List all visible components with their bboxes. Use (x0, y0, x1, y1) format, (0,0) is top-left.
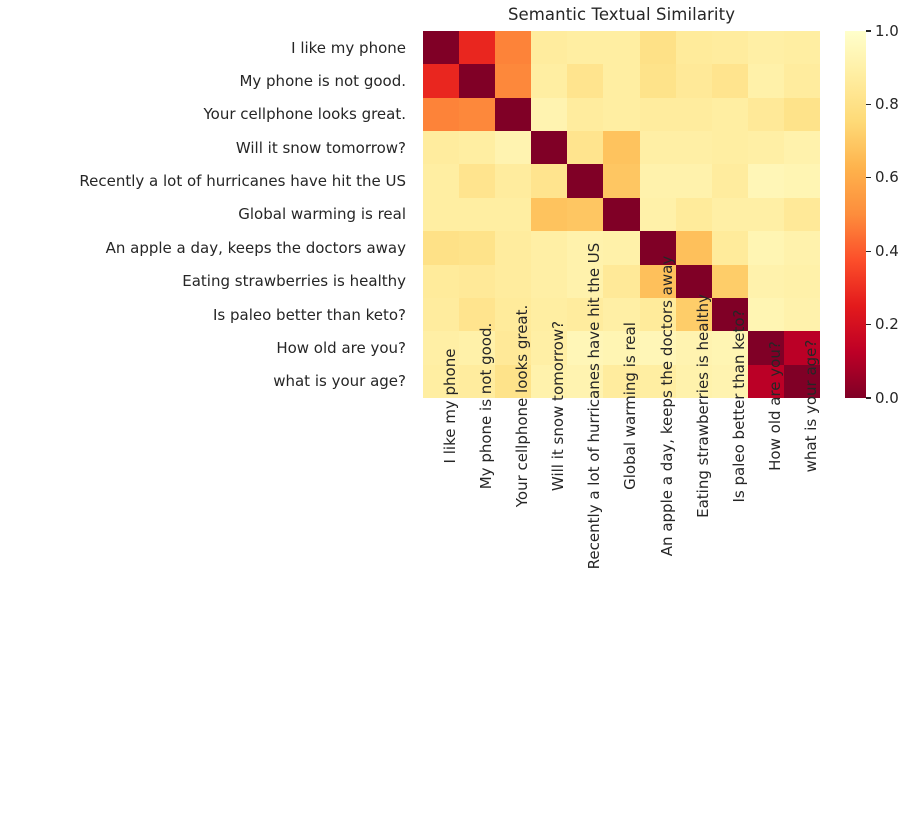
x-tick-label: Global warming is real (603, 398, 639, 818)
y-tick-label: How old are you? (0, 331, 415, 364)
heatmap-cell (784, 231, 820, 264)
heatmap-cell (423, 164, 459, 197)
heatmap-cell (784, 164, 820, 197)
heatmap-cell (676, 98, 712, 131)
heatmap-cell (712, 265, 748, 298)
heatmap-cell (423, 265, 459, 298)
heatmap-cell (676, 198, 712, 231)
heatmap-cell (603, 231, 639, 264)
heatmap-cell (603, 131, 639, 164)
colorbar-gradient (845, 31, 866, 398)
heatmap-cell (640, 164, 676, 197)
heatmap-cell (567, 98, 603, 131)
heatmap-cell (712, 198, 748, 231)
y-tick-label: Recently a lot of hurricanes have hit th… (0, 164, 415, 197)
y-tick-label: Will it snow tomorrow? (0, 131, 415, 164)
colorbar-tick-label: 0.8 (875, 97, 899, 112)
heatmap-cell (748, 131, 784, 164)
colorbar-tick-label: 0.4 (875, 244, 899, 259)
y-tick-label: Global warming is real (0, 198, 415, 231)
x-tick-label: Your cellphone looks great. (495, 398, 531, 818)
heatmap-cell (784, 64, 820, 97)
heatmap-cell (459, 231, 495, 264)
x-tick-label: Eating strawberries is healthy (676, 398, 712, 818)
heatmap-cell (676, 131, 712, 164)
heatmap-cell (784, 98, 820, 131)
heatmap-cell (423, 31, 459, 64)
y-tick-label: I like my phone (0, 31, 415, 64)
x-tick-label: what is your age? (784, 398, 820, 818)
heatmap-cell (423, 131, 459, 164)
heatmap-cell (676, 64, 712, 97)
heatmap-cell (712, 164, 748, 197)
heatmap-cell (640, 98, 676, 131)
heatmap-cell (423, 98, 459, 131)
colorbar-tick-mark (866, 177, 871, 178)
heatmap-cell (567, 64, 603, 97)
heatmap-cell (748, 164, 784, 197)
heatmap-cell (567, 31, 603, 64)
heatmap-cell (712, 64, 748, 97)
heatmap-cell (748, 265, 784, 298)
x-tick-label: Is paleo better than keto? (712, 398, 748, 818)
x-tick-label: My phone is not good. (459, 398, 495, 818)
heatmap-cell (676, 31, 712, 64)
heatmap-cell (459, 31, 495, 64)
heatmap-cell (495, 164, 531, 197)
colorbar-tick-mark (866, 397, 871, 398)
heatmap-cell (531, 231, 567, 264)
heatmap-cell (784, 298, 820, 331)
colorbar-tick-label: 0.0 (875, 391, 899, 406)
heatmap-cell (748, 198, 784, 231)
heatmap-cell (459, 198, 495, 231)
heatmap-cell (423, 64, 459, 97)
heatmap-cell (459, 131, 495, 164)
colorbar-tick-label: 0.2 (875, 317, 899, 332)
y-tick-label: what is your age? (0, 365, 415, 398)
colorbar: 0.00.20.40.60.81.0 (845, 31, 915, 398)
heatmap-cell (603, 198, 639, 231)
heatmap-cell (603, 164, 639, 197)
heatmap-cell (712, 98, 748, 131)
heatmap-cell (495, 265, 531, 298)
heatmap-cell (640, 31, 676, 64)
heatmap-cell (748, 231, 784, 264)
heatmap-cell (567, 164, 603, 197)
heatmap-cell (748, 98, 784, 131)
heatmap-cell (531, 265, 567, 298)
heatmap-cell (495, 198, 531, 231)
heatmap-cell (712, 31, 748, 64)
heatmap-cell (459, 98, 495, 131)
heatmap-cell (784, 31, 820, 64)
heatmap-cell (712, 231, 748, 264)
x-tick-label: How old are you? (748, 398, 784, 818)
x-tick-label: Recently a lot of hurricanes have hit th… (567, 398, 603, 818)
y-tick-label: My phone is not good. (0, 64, 415, 97)
colorbar-tick-mark (866, 251, 871, 252)
heatmap-cell (676, 164, 712, 197)
figure-canvas: Semantic Textual Similarity I like my ph… (0, 0, 915, 826)
heatmap-cell (603, 31, 639, 64)
colorbar-tick-label: 1.0 (875, 24, 899, 39)
y-tick-label: Your cellphone looks great. (0, 98, 415, 131)
x-tick-label: Will it snow tomorrow? (531, 398, 567, 818)
heatmap-cell (531, 31, 567, 64)
x-axis-tick-labels: I like my phoneMy phone is not good.Your… (423, 398, 820, 818)
heatmap-cell (603, 265, 639, 298)
heatmap-cell (567, 198, 603, 231)
heatmap-cell (459, 265, 495, 298)
heatmap-cell (531, 98, 567, 131)
x-tick-label: An apple a day, keeps the doctors away (640, 398, 676, 818)
heatmap-cell (459, 64, 495, 97)
heatmap-cell (676, 231, 712, 264)
heatmap-cell (495, 231, 531, 264)
heatmap-cell (531, 198, 567, 231)
chart-title: Semantic Textual Similarity (423, 5, 820, 24)
heatmap-cell (531, 164, 567, 197)
x-tick-label: I like my phone (423, 398, 459, 818)
heatmap-cell (748, 64, 784, 97)
heatmap-cell (567, 131, 603, 164)
y-tick-label: An apple a day, keeps the doctors away (0, 231, 415, 264)
heatmap-cell (423, 198, 459, 231)
heatmap-cell (423, 298, 459, 331)
heatmap-cell (531, 131, 567, 164)
heatmap-cell (640, 198, 676, 231)
heatmap-cell (784, 131, 820, 164)
y-tick-label: Is paleo better than keto? (0, 298, 415, 331)
heatmap-cell (603, 98, 639, 131)
heatmap-cell (784, 265, 820, 298)
heatmap-cell (495, 31, 531, 64)
heatmap-cell (640, 131, 676, 164)
heatmap-cell (531, 64, 567, 97)
heatmap-cell (784, 198, 820, 231)
heatmap-cell (640, 64, 676, 97)
heatmap-cell (459, 164, 495, 197)
colorbar-tick-mark (866, 324, 871, 325)
heatmap-cell (712, 131, 748, 164)
heatmap-cell (495, 98, 531, 131)
colorbar-tick-mark (866, 30, 871, 31)
heatmap-cell (495, 64, 531, 97)
heatmap-cell (423, 231, 459, 264)
y-axis-tick-labels: I like my phoneMy phone is not good.Your… (0, 31, 415, 398)
colorbar-tick-mark (866, 104, 871, 105)
colorbar-tick-label: 0.6 (875, 170, 899, 185)
heatmap-cell (748, 298, 784, 331)
y-tick-label: Eating strawberries is healthy (0, 265, 415, 298)
heatmap-cell (495, 131, 531, 164)
heatmap-cell (603, 64, 639, 97)
heatmap-cell (748, 31, 784, 64)
